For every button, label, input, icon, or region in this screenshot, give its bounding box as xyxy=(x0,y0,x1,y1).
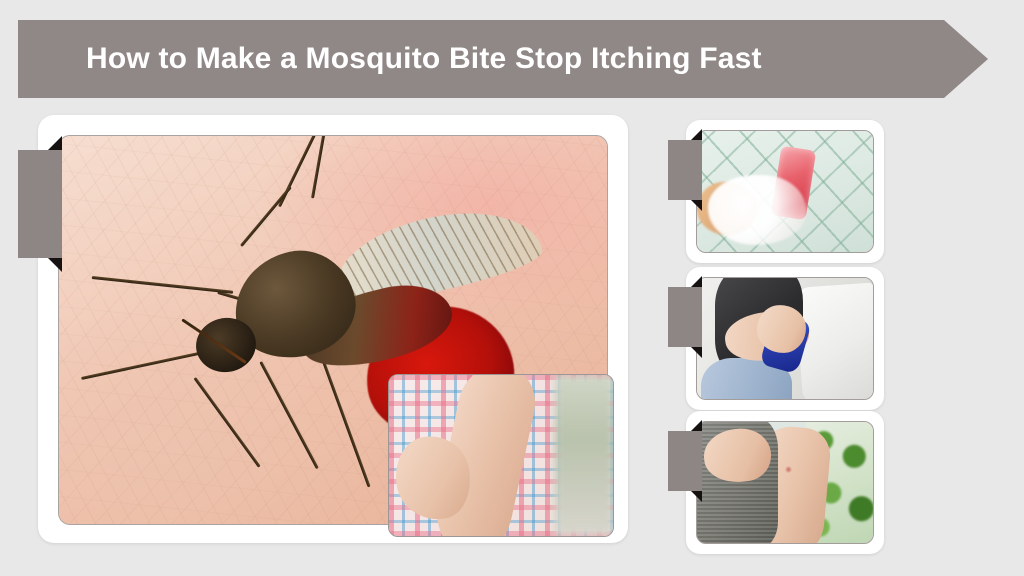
scratching-arm-inset-photo[interactable] xyxy=(388,374,614,537)
blurred-background xyxy=(555,375,613,536)
thumbnail-bite-on-arm[interactable] xyxy=(696,421,874,544)
page-title: How to Make a Mosquito Bite Stop Itching… xyxy=(86,42,762,76)
soap-foam xyxy=(708,175,807,245)
thumbnail-ice-pack[interactable] xyxy=(696,277,874,400)
thumbnail-card-ice-pack xyxy=(686,267,884,410)
thumbnail-3-ribbon-tab xyxy=(668,431,702,491)
thumbnail-card-bite-on-arm xyxy=(686,411,884,554)
main-image-ribbon-tab xyxy=(18,150,62,258)
thumbnail-card-soap xyxy=(686,120,884,263)
thumbnail-2-ribbon-tab xyxy=(668,287,702,347)
thumbnail-soap-washing[interactable] xyxy=(696,130,874,253)
thumbnail-1-ribbon-tab xyxy=(668,140,702,200)
mosquito-bite-mark xyxy=(785,466,792,473)
title-banner: How to Make a Mosquito Bite Stop Itching… xyxy=(18,20,988,98)
